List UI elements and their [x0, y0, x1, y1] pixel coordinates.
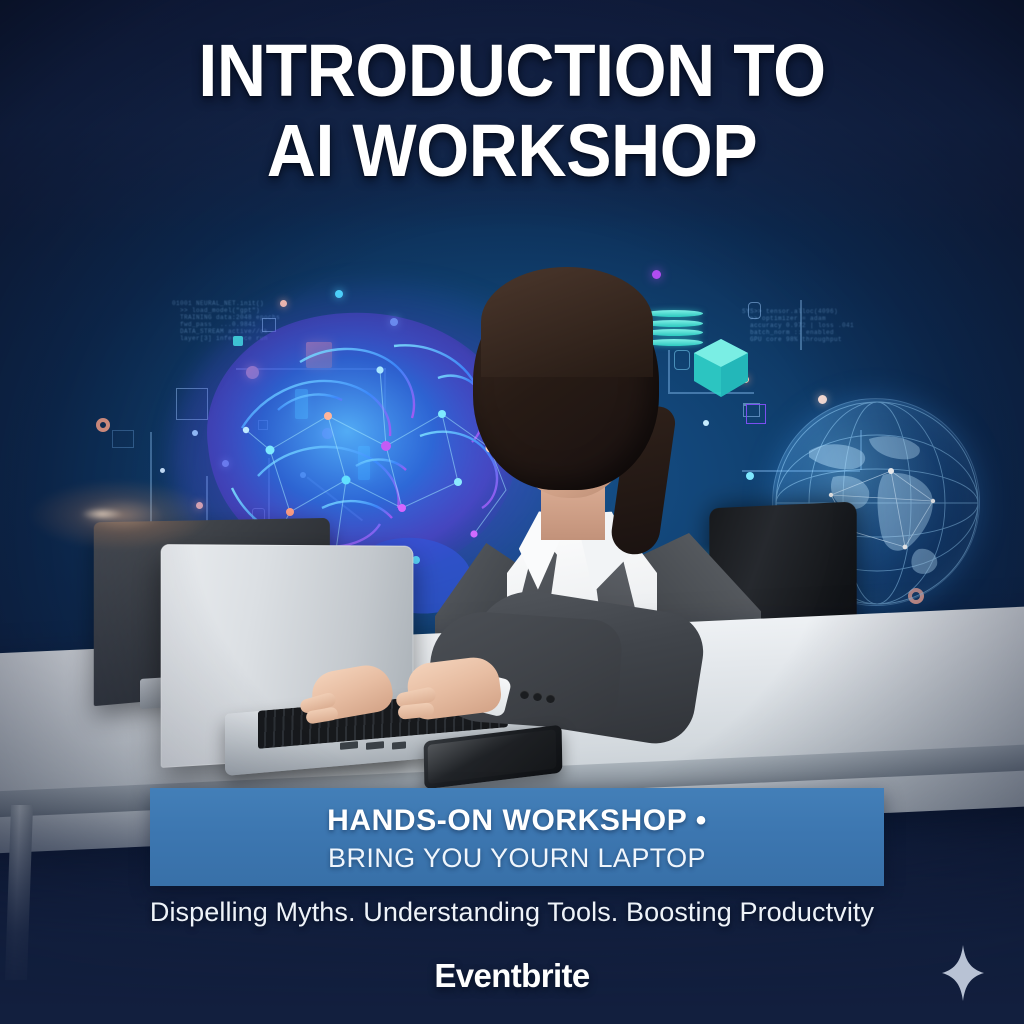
- poster-canvas: 01001 NEURAL_NET.init() >> load_model("g…: [0, 0, 1024, 1024]
- sparkle-diamond-icon: [941, 944, 985, 1002]
- page-title: INTRODUCTION TO AI WORKSHOP: [41, 34, 983, 188]
- banner-line-1: HANDS-ON WORKSHOP •: [150, 804, 884, 838]
- banner-line-2: BRING YOU YOURN LAPTOP: [150, 843, 884, 874]
- brand-row: Eventbrite: [0, 957, 1024, 995]
- tagline: Dispelling Myths. Understanding Tools. B…: [0, 897, 1024, 928]
- highlight-banner: HANDS-ON WORKSHOP • BRING YOU YOURN LAPT…: [150, 788, 884, 886]
- title-line-2: AI WORKSHOP: [41, 114, 983, 188]
- title-line-1: INTRODUCTION TO: [41, 34, 983, 108]
- eventbrite-logo[interactable]: Eventbrite: [434, 957, 589, 995]
- sparkle-svg: [941, 944, 985, 1002]
